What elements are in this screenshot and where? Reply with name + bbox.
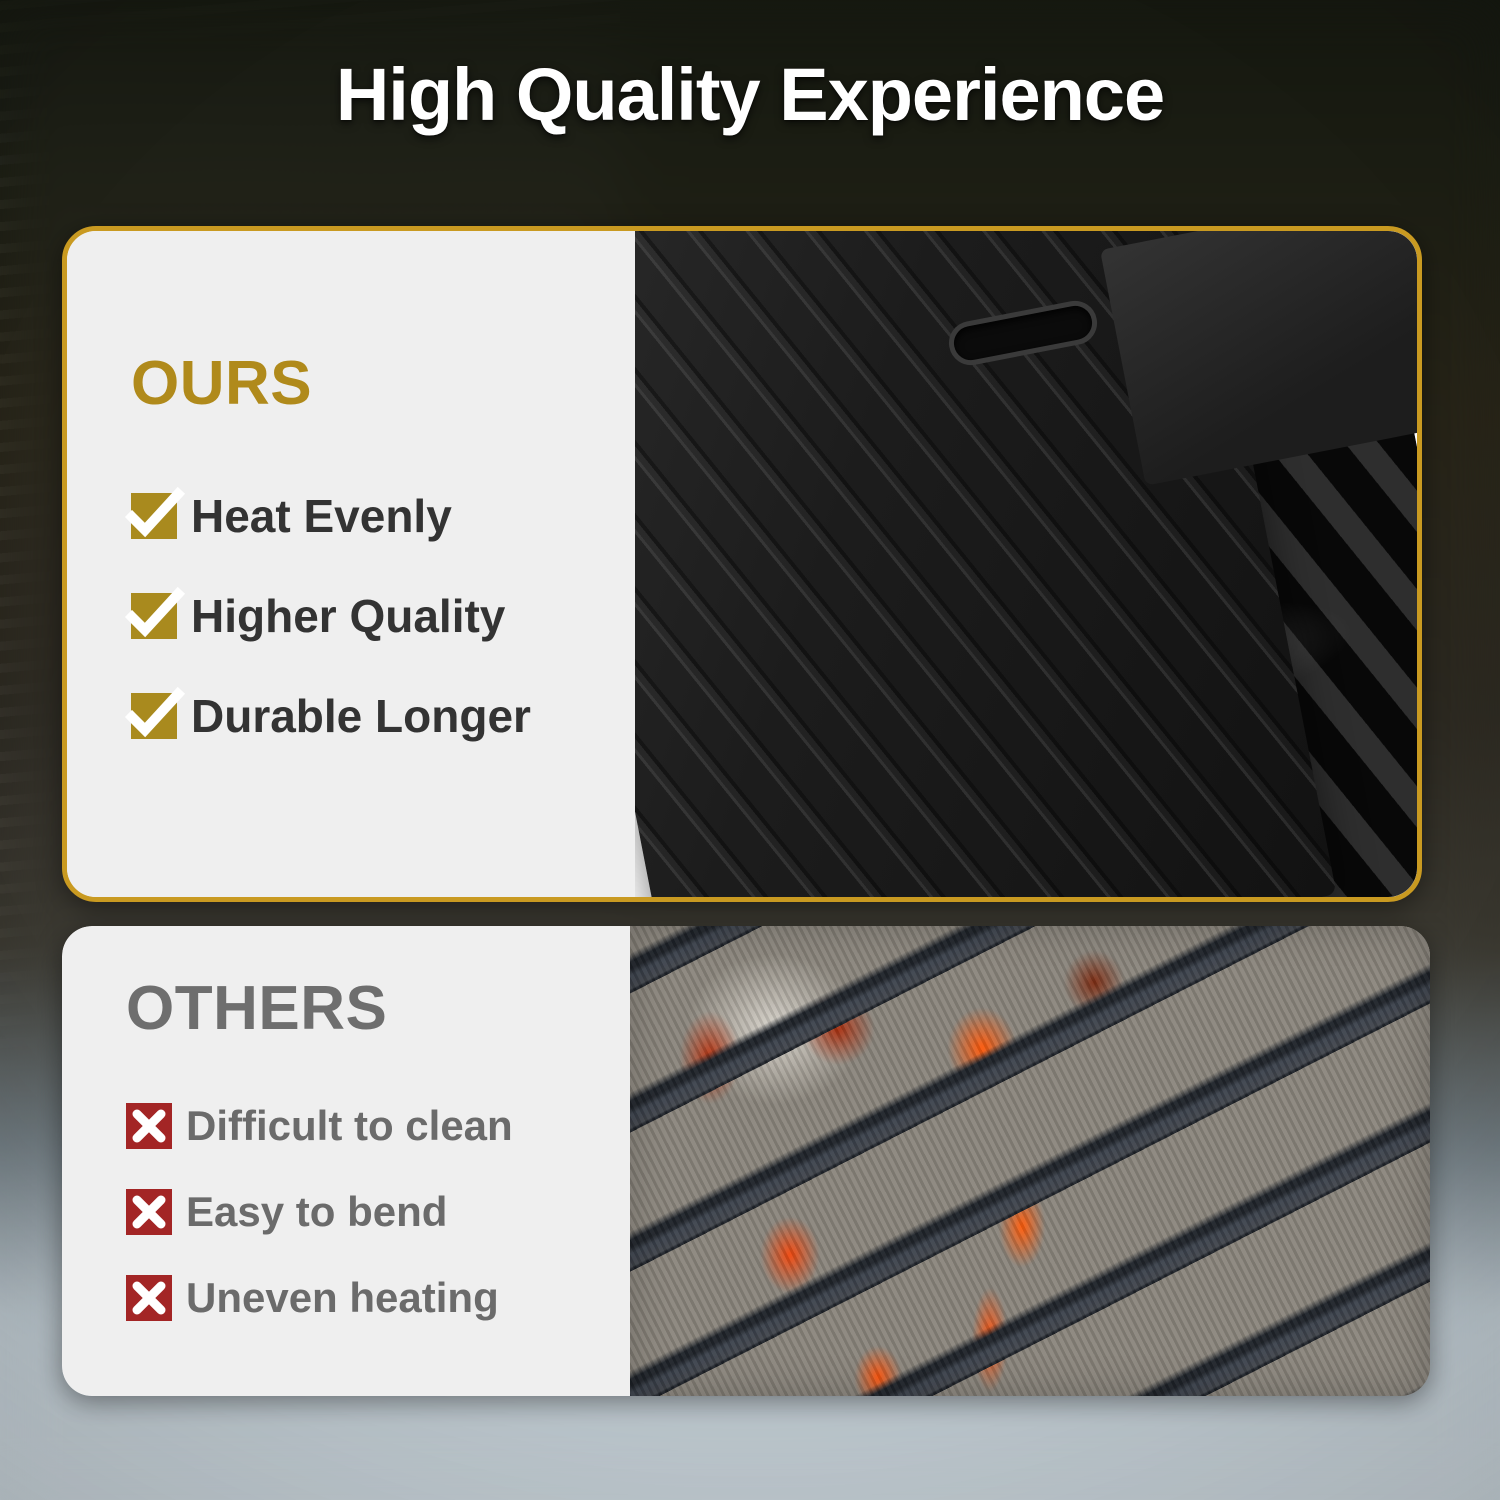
list-item: Heat Evenly (131, 489, 531, 543)
check-icon (131, 693, 177, 739)
list-item-label: Easy to bend (186, 1188, 447, 1236)
list-item-label: Uneven heating (186, 1274, 499, 1322)
check-icon (131, 493, 177, 539)
others-heading: OTHERS (126, 978, 387, 1040)
rusty-charcoal-grill-photo (630, 926, 1430, 1396)
check-icon (131, 593, 177, 639)
list-item: Easy to bend (126, 1188, 513, 1236)
others-comparison-card: OTHERS Difficult to clean Easy to bend (62, 926, 1430, 1396)
cross-icon (126, 1275, 172, 1321)
cross-icon (126, 1103, 172, 1149)
list-item-label: Higher Quality (191, 589, 505, 643)
ribbed-griddle-plate-photo (635, 231, 1417, 897)
list-item: Durable Longer (131, 689, 531, 743)
list-item-label: Difficult to clean (186, 1102, 513, 1150)
list-item: Higher Quality (131, 589, 531, 643)
list-item-label: Heat Evenly (191, 489, 452, 543)
list-item-label: Durable Longer (191, 689, 531, 743)
ours-heading: OURS (131, 353, 312, 415)
others-text-panel: OTHERS Difficult to clean Easy to bend (62, 926, 630, 1396)
list-item: Uneven heating (126, 1274, 513, 1322)
ours-comparison-card: OURS Heat Evenly Higher Quality (62, 226, 1422, 902)
page-title: High Quality Experience (0, 52, 1500, 137)
photo-inner-shadow (630, 926, 1430, 1396)
ours-text-panel: OURS Heat Evenly Higher Quality (67, 231, 635, 897)
others-drawback-list: Difficult to clean Easy to bend Uneven h… (126, 1102, 513, 1360)
cross-icon (126, 1189, 172, 1235)
list-item: Difficult to clean (126, 1102, 513, 1150)
ours-feature-list: Heat Evenly Higher Quality Durable Longe… (131, 489, 531, 789)
